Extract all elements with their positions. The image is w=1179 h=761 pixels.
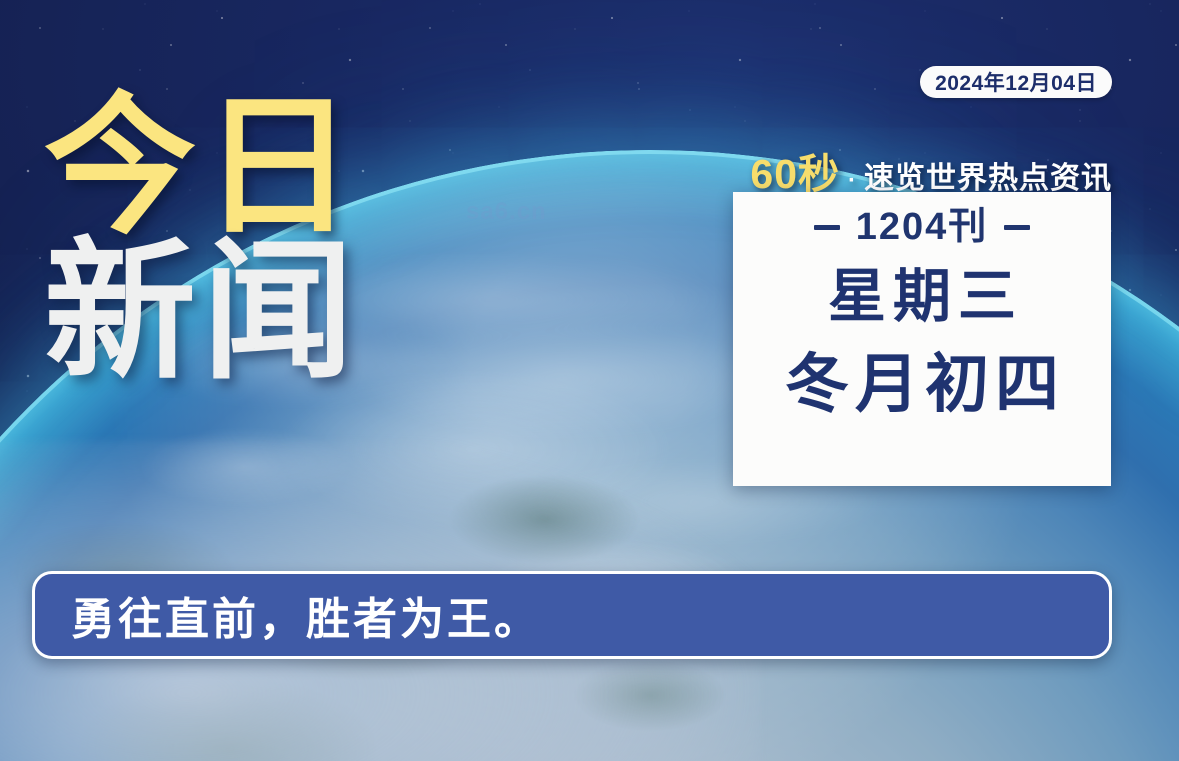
info-card: 1204刊 星期三 冬月初四	[733, 192, 1111, 486]
quote-text: 勇往直前，胜者为王。	[71, 583, 541, 647]
issue-row: 1204刊	[814, 208, 1031, 246]
title-line-news: 新闻	[44, 241, 514, 384]
quote-bar: 勇往直前，胜者为王。	[32, 571, 1112, 659]
tagline-seconds: 60秒	[750, 140, 840, 200]
date-badge: 2024年12月04日	[920, 66, 1112, 98]
lunar-date-label: 冬月初四	[779, 352, 1065, 416]
news-poster: sa6.cn 今日 新闻 2024年12月04日 60秒 · 速览世界热点资讯 …	[0, 0, 1179, 761]
dash-left-icon	[814, 225, 840, 230]
weekday-label: 星期三	[821, 268, 1023, 326]
tagline-separator: ·	[846, 167, 858, 195]
tagline: 60秒 · 速览世界热点资讯	[750, 140, 1112, 200]
page-title: 今日 新闻	[44, 96, 514, 384]
dash-right-icon	[1004, 225, 1030, 230]
tagline-description: 速览世界热点资讯	[864, 153, 1112, 197]
issue-label: 1204刊	[856, 208, 989, 246]
title-line-today: 今日	[44, 96, 514, 239]
